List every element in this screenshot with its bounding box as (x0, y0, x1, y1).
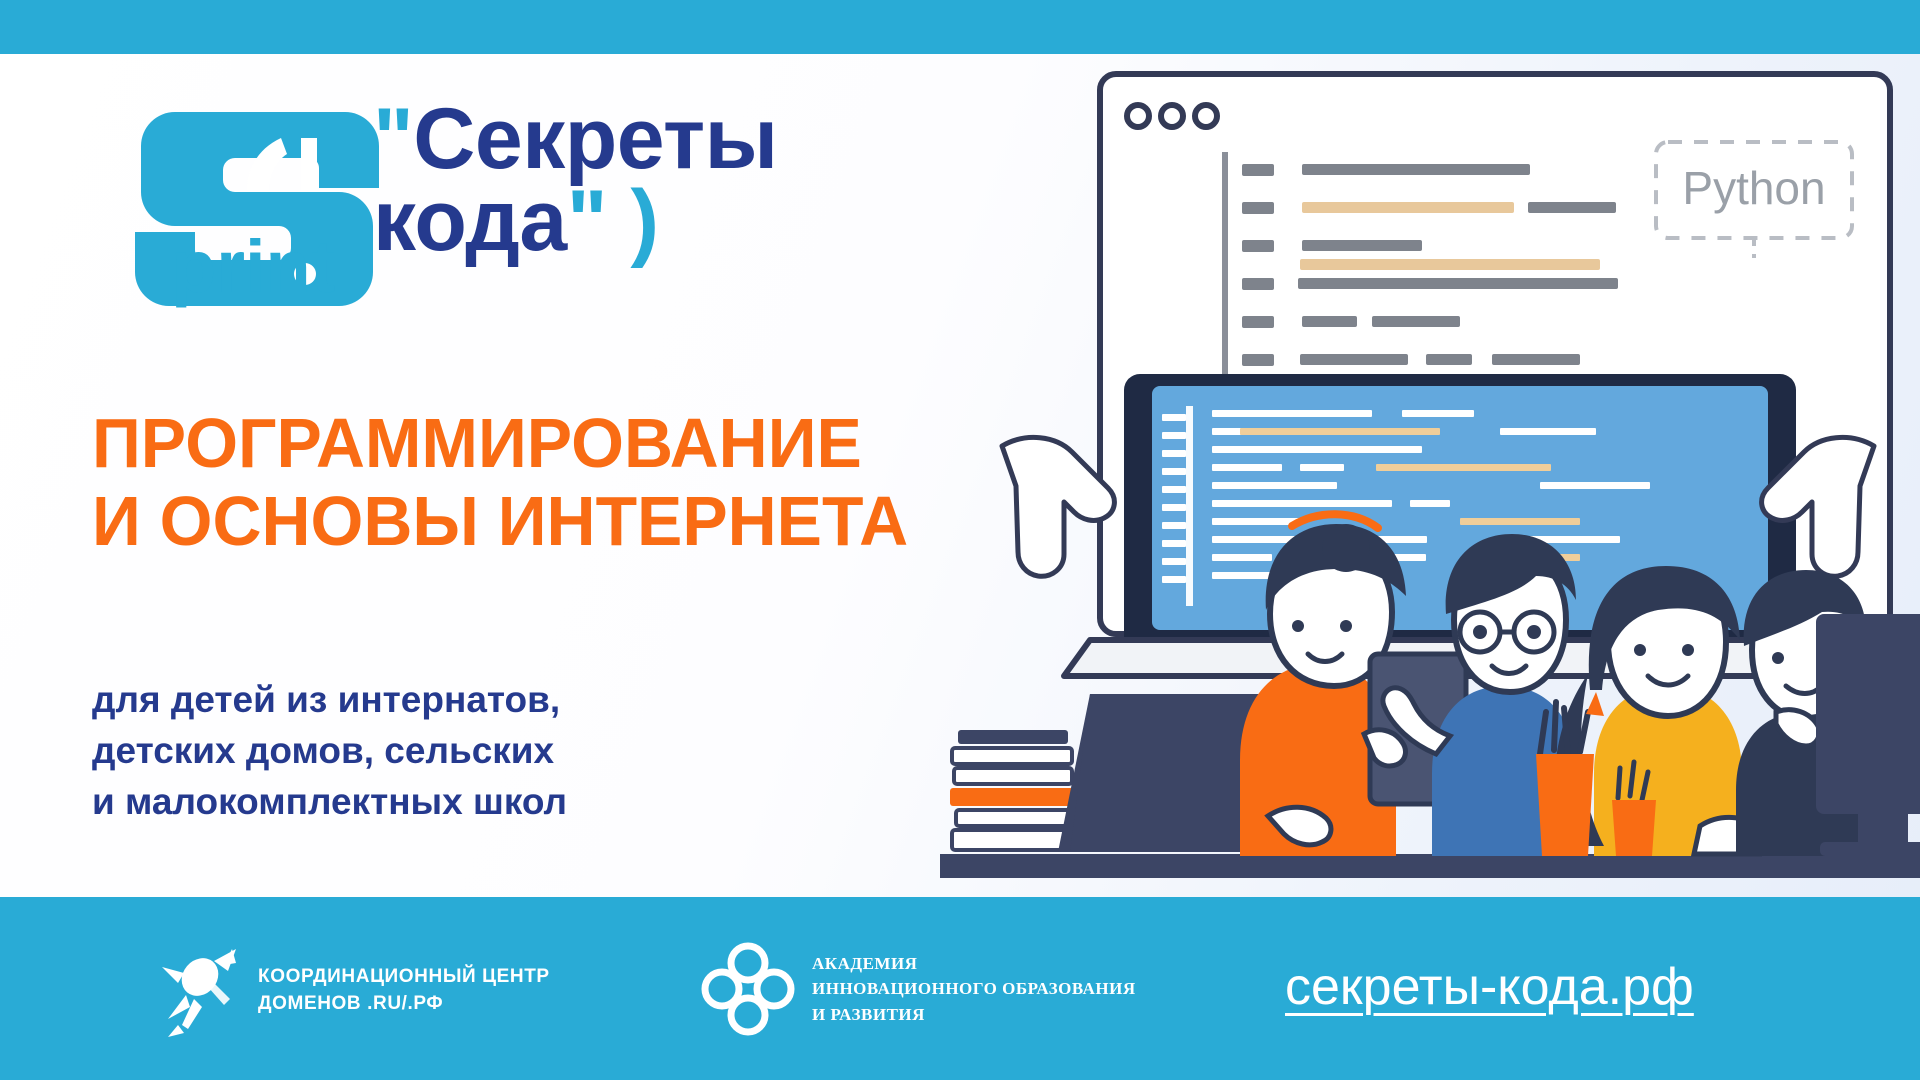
desk-surface (940, 854, 1920, 878)
svg-text:print: print (171, 225, 335, 308)
headline-line-2: И ОСНОВЫ ИНТЕРНЕТА (92, 482, 1072, 560)
ac-line-1: АКАДЕМИЯ (812, 951, 1136, 977)
headline-line-1: ПРОГРАММИРОВАНИЕ (92, 404, 1072, 482)
subtext-line-1: для детей из интернатов, (92, 674, 852, 725)
cc-line-2: ДОМЕНОВ .RU/.РФ (258, 991, 550, 1018)
academy-logo[interactable]: АКАДЕМИЯ ИННОВАЦИОННОГО ОБРАЗОВАНИЯ И РА… (700, 941, 1136, 1037)
ac-line-3: И РАЗВИТИЯ (812, 1002, 1136, 1028)
website-link[interactable]: секреты-кода.рф (1285, 957, 1694, 1017)
audience-description: для детей из интернатов, детских домов, … (92, 674, 852, 827)
pencil-cup-small (1612, 762, 1656, 856)
academy-text: АКАДЕМИЯ ИННОВАЦИОННОГО ОБРАЗОВАНИЯ И РА… (812, 951, 1136, 1028)
ac-line-2: ИННОВАЦИОННОГО ОБРАЗОВАНИЯ (812, 976, 1136, 1002)
python-label: Python (1682, 162, 1825, 214)
illustration: Python (940, 54, 1920, 897)
brand-lockup: print "Секреты кода" ) (105, 104, 985, 314)
quote-close-mark: " ) (567, 173, 659, 269)
brand-title: "Секреты кода" ) (373, 102, 778, 259)
top-accent-bar (0, 0, 1920, 54)
cc-line-1: КООРДИНАЦИОННЫЙ ЦЕНТР (258, 964, 550, 991)
clover-icon (700, 941, 796, 1037)
books-stack (950, 730, 1076, 850)
coordination-center-text: КООРДИНАЦИОННЫЙ ЦЕНТР ДОМЕНОВ .RU/.РФ (258, 964, 550, 1018)
promo-banner: print "Секреты кода" ) ПРОГРАММИРОВАНИЕ … (0, 0, 1920, 1080)
rocket-icon (160, 943, 246, 1039)
footer: КООРДИНАЦИОННЫЙ ЦЕНТР ДОМЕНОВ .RU/.РФ АК… (0, 897, 1920, 1080)
subtext-line-3: и малокомплектных школ (92, 776, 852, 827)
coordination-center-logo[interactable]: КООРДИНАЦИОННЫЙ ЦЕНТР ДОМЕНОВ .RU/.РФ (160, 943, 550, 1039)
brand-title-line2: кода (373, 173, 567, 269)
subtext-line-2: детских домов, сельских (92, 725, 852, 776)
